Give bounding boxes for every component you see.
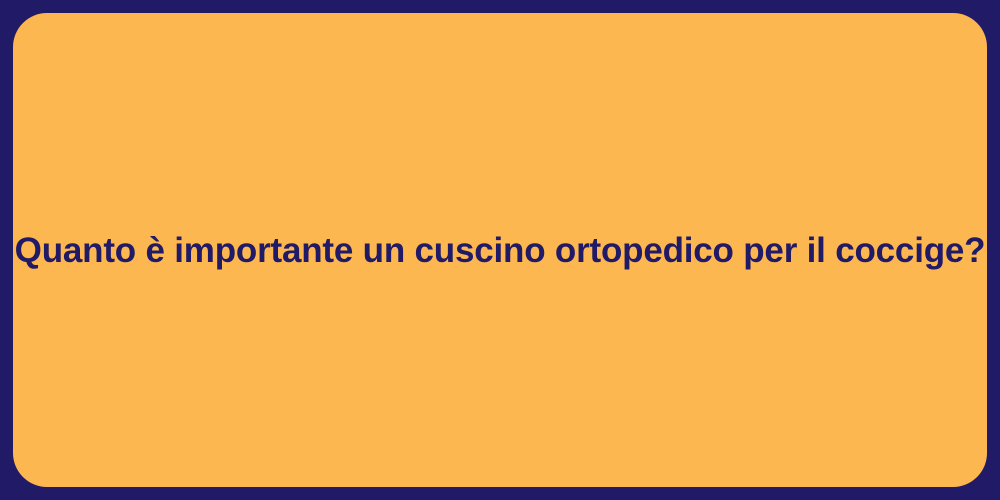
headline-text: Quanto è importante un cuscino ortopedic…	[13, 230, 987, 272]
headline-card: Quanto è importante un cuscino ortopedic…	[13, 13, 987, 487]
banner-background: Quanto è importante un cuscino ortopedic…	[0, 0, 1000, 500]
